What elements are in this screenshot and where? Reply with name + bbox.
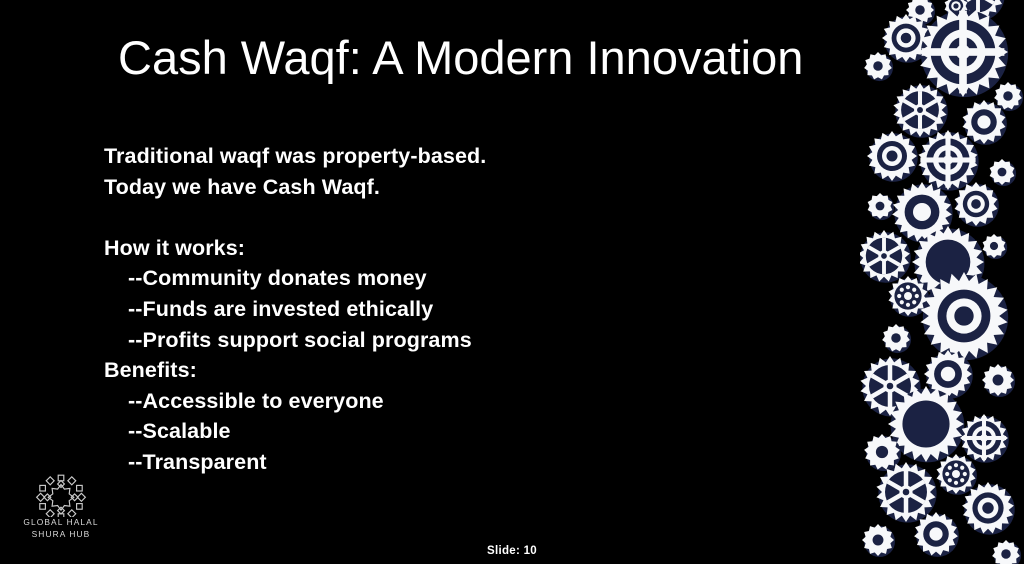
body-line: --Scalable xyxy=(104,416,804,447)
logo-text-line-2: SHURA HUB xyxy=(13,529,109,541)
body-line: How it works: xyxy=(104,233,804,264)
gear-cluster-decoration xyxy=(860,0,1024,564)
rosette-star-icon xyxy=(35,473,87,517)
page-title: Cash Waqf: A Modern Innovation xyxy=(118,33,838,82)
slide-body-text: Traditional waqf was property-based.Toda… xyxy=(104,141,804,478)
body-line: Traditional waqf was property-based. xyxy=(104,141,804,172)
slide-number-footer: Slide: 10 xyxy=(0,545,1024,557)
body-line: Today we have Cash Waqf. xyxy=(104,172,804,203)
body-line: --Profits support social programs xyxy=(104,325,804,356)
body-line: --Community donates money xyxy=(104,263,804,294)
body-line: --Accessible to everyone xyxy=(104,386,804,417)
body-line-spacer xyxy=(104,202,804,233)
logo-text-line-1: GLOBAL HALAL xyxy=(13,517,109,529)
organization-logo: GLOBAL HALAL SHURA HUB xyxy=(13,473,109,540)
presentation-slide: Cash Waqf: A Modern Innovation Tradition… xyxy=(0,0,1024,564)
body-line: Benefits: xyxy=(104,355,804,386)
body-line: --Funds are invested ethically xyxy=(104,294,804,325)
body-line: --Transparent xyxy=(104,447,804,478)
